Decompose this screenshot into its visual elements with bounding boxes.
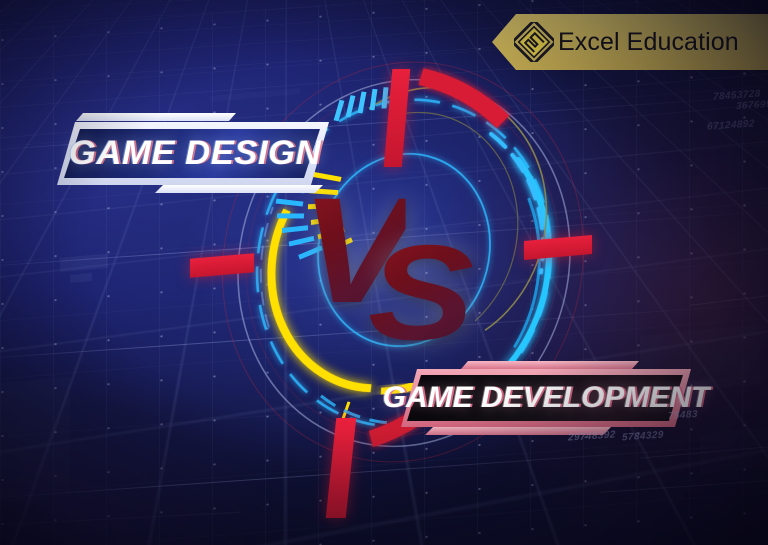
reticle-bar-bottom	[326, 418, 357, 518]
tech-number: 5784329	[622, 430, 664, 444]
perspective-grid	[0, 0, 768, 545]
tech-line	[690, 295, 768, 306]
tech-line	[0, 512, 240, 526]
tech-line	[600, 480, 768, 493]
yellow-arc	[271, 204, 371, 395]
bg-block	[0, 377, 70, 503]
red-arc-top-right	[421, 71, 503, 128]
hud-top-ticks	[336, 87, 386, 120]
banner-accent-top	[76, 113, 236, 121]
cyan-arc-right	[497, 158, 549, 378]
game-design-banner[interactable]: GAME DESIGN	[57, 122, 329, 185]
bg-block	[700, 426, 768, 473]
vignette	[0, 0, 768, 545]
excel-diamond-logo-icon	[514, 22, 554, 62]
game-development-banner[interactable]: GAME DEVELOPMENT	[401, 369, 691, 427]
vs-graphic: V S	[300, 181, 470, 341]
game-development-label: GAME DEVELOPMENT	[401, 369, 691, 427]
brand-logo-banner[interactable]: Excel Education	[492, 14, 768, 70]
olive-thin-ring-2	[389, 105, 518, 327]
reticle-bar-right	[524, 235, 592, 260]
banner-accent-bottom	[155, 185, 323, 193]
vs-letter-v: V	[300, 175, 405, 325]
reticle-bar-left	[190, 253, 254, 278]
flat-grid-overlay	[0, 0, 768, 545]
scanline	[0, 440, 768, 500]
bg-block	[60, 254, 108, 272]
bg-block	[210, 88, 300, 102]
grid-dots	[0, 0, 768, 545]
banner-accent-top	[461, 361, 639, 369]
brand-logo-text: Excel Education	[558, 28, 739, 57]
tech-line	[640, 446, 768, 458]
tech-number: 29748392	[568, 429, 616, 443]
game-design-label: GAME DESIGN	[54, 122, 331, 185]
tech-number: 67124892	[707, 118, 755, 132]
cyan-arc-right-2	[515, 199, 539, 347]
inner-cyan-ring	[318, 148, 490, 352]
grid-lines	[0, 0, 768, 545]
vs-accent-tick	[395, 265, 407, 287]
vs-letter-s: S	[368, 225, 474, 360]
bg-block	[70, 273, 92, 283]
tech-number: 75483	[668, 409, 698, 422]
left-dashed-ring	[261, 207, 273, 328]
tech-number: 367699	[736, 99, 768, 113]
reticle-arcs	[0, 0, 768, 545]
warm-glow-layer	[0, 0, 768, 545]
poster-canvas: V S GAME DESIGN GAME DEVELOPMENT Excel E…	[0, 0, 768, 545]
reticle-bar-top	[384, 69, 411, 167]
scanline	[0, 208, 768, 268]
scanline	[0, 300, 768, 360]
